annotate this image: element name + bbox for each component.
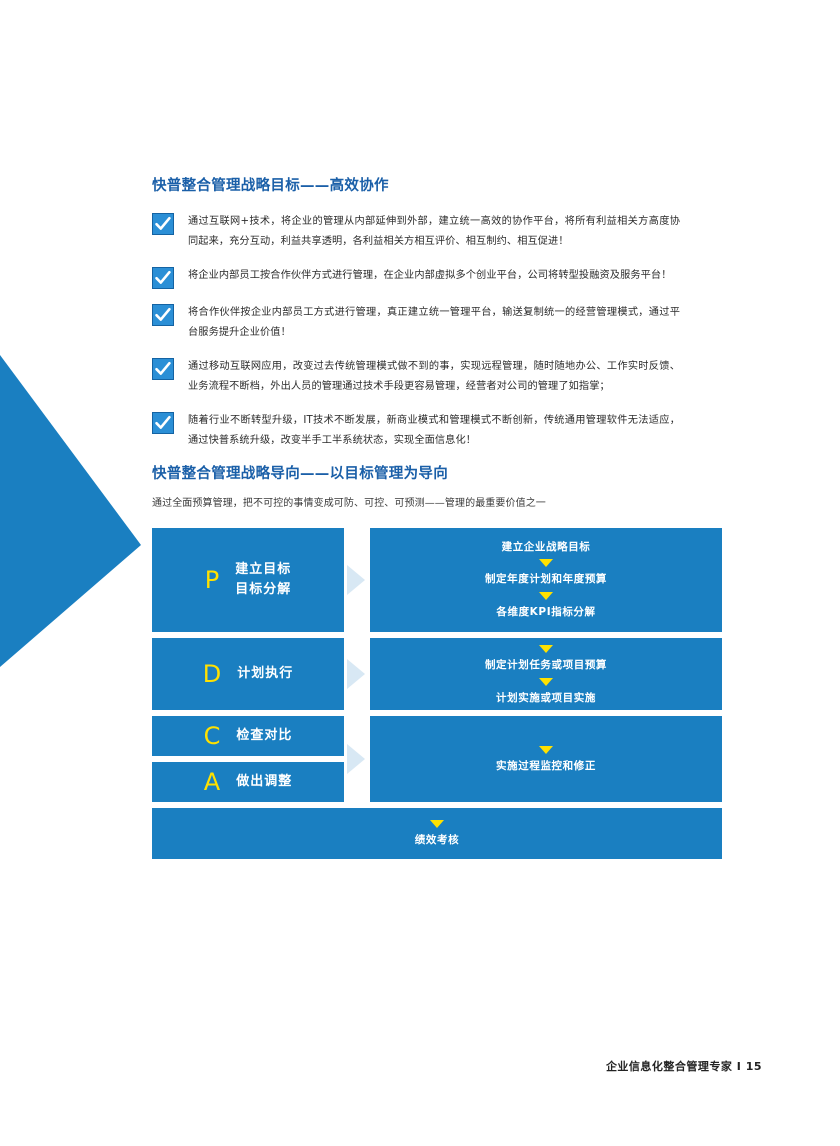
content-column: 快普整合管理战略目标——高效协作 通过互联网+技术，将企业的管理从内部延伸到外部… <box>152 176 680 859</box>
pdca-stage-label: 计划执行 <box>237 664 293 684</box>
pdca-letter-a: A <box>204 770 220 794</box>
list-item-text: 随着行业不断转型升级，IT技术不断发展，新商业模式和管理模式不断创新，传统通用管… <box>188 411 680 451</box>
pdca-letter-p: P <box>205 568 219 592</box>
check-box-icon <box>152 267 174 289</box>
pdca-flow-check-act: 实施过程监控和修正 <box>370 716 722 802</box>
chevron-right-icon <box>344 638 370 710</box>
list-item-text: 通过互联网+技术，将企业的管理从内部延伸到外部，建立统一高效的协作平台，将所有利… <box>188 212 680 252</box>
page-title-strategy-goal: 快普整合管理战略目标——高效协作 <box>152 176 680 196</box>
pdca-row-plan: P 建立目标 目标分解 建立企业战略目标 制定年度计划和年度预算 <box>152 528 722 632</box>
pdca-letter-c: C <box>204 724 221 748</box>
pdca-stage-c: C 检查对比 <box>152 716 344 756</box>
pdca-stage-a: A 做出调整 <box>152 762 344 802</box>
arrow-down-icon <box>539 678 553 686</box>
flow-step: 制定计划任务或项目预算 <box>485 657 607 674</box>
pdca-label-line: 建立目标 <box>235 560 291 580</box>
pdca-left-column: D 计划执行 <box>152 638 344 710</box>
list-item: 通过互联网+技术，将企业的管理从内部延伸到外部，建立统一高效的协作平台，将所有利… <box>152 212 680 252</box>
list-item: 随着行业不断转型升级，IT技术不断发展，新商业模式和管理模式不断创新，传统通用管… <box>152 411 680 451</box>
pdca-label-line: 计划执行 <box>237 664 293 684</box>
pdca-flow-plan: 建立企业战略目标 制定年度计划和年度预算 各维度KPI指标分解 <box>370 528 722 632</box>
pdca-stage-label: 做出调整 <box>236 772 292 792</box>
pdca-row-check-act: C 检查对比 A 做出调整 <box>152 716 722 802</box>
pdca-label-line: 检查对比 <box>236 726 292 746</box>
flow-step: 绩效考核 <box>415 832 459 849</box>
list-item-text: 将合作伙伴按企业内部员工方式进行管理，真正建立统一管理平台，输送复制统一的经营管… <box>188 303 680 343</box>
page-footer: 企业信息化整合管理专家 I 15 <box>606 1058 762 1074</box>
check-box-icon <box>152 412 174 434</box>
page-title-strategy-direction: 快普整合管理战略导向——以目标管理为导向 <box>152 464 680 484</box>
arrow-down-icon <box>539 645 553 653</box>
pdca-label-line: 目标分解 <box>235 580 291 600</box>
list-item: 将企业内部员工按合作伙伴方式进行管理，在企业内部虚拟多个创业平台，公司将转型投融… <box>152 266 680 289</box>
pdca-diagram: P 建立目标 目标分解 建立企业战略目标 制定年度计划和年度预算 <box>152 528 722 859</box>
flow-step: 建立企业战略目标 <box>502 539 591 556</box>
pdca-stage-label: 检查对比 <box>236 726 292 746</box>
pdca-label-line: 做出调整 <box>236 772 292 792</box>
decorative-triangle <box>0 355 141 667</box>
pdca-left-column: C 检查对比 A 做出调整 <box>152 716 344 802</box>
arrow-down-icon <box>430 820 444 828</box>
list-item: 将合作伙伴按企业内部员工方式进行管理，真正建立统一管理平台，输送复制统一的经营管… <box>152 303 680 343</box>
pdca-stage-p: P 建立目标 目标分解 <box>152 528 344 632</box>
arrow-down-icon <box>539 746 553 754</box>
check-box-icon <box>152 358 174 380</box>
check-box-icon <box>152 304 174 326</box>
strategy-goal-list: 通过互联网+技术，将企业的管理从内部延伸到外部，建立统一高效的协作平台，将所有利… <box>152 212 680 450</box>
pdca-letter-d: D <box>203 662 221 686</box>
pdca-left-column: P 建立目标 目标分解 <box>152 528 344 632</box>
flow-step: 制定年度计划和年度预算 <box>485 571 607 588</box>
flow-step: 实施过程监控和修正 <box>496 758 596 775</box>
chevron-right-icon <box>344 716 370 802</box>
pdca-row-do: D 计划执行 制定计划任务或项目预算 计划实施或项目实施 <box>152 638 722 710</box>
flow-step: 计划实施或项目实施 <box>496 690 596 707</box>
section-caption: 通过全面预算管理，把不可控的事情变成可防、可控、可预测——管理的最重要价值之一 <box>152 495 680 512</box>
pdca-flow-do: 制定计划任务或项目预算 计划实施或项目实施 <box>370 638 722 710</box>
pdca-performance-band: 绩效考核 <box>152 808 722 859</box>
flow-step: 各维度KPI指标分解 <box>496 604 595 621</box>
arrow-down-icon <box>539 559 553 567</box>
arrow-down-icon <box>539 592 553 600</box>
check-box-icon <box>152 213 174 235</box>
list-item-text: 通过移动互联网应用，改变过去传统管理模式做不到的事，实现远程管理，随时随地办公、… <box>188 357 680 397</box>
pdca-stage-label: 建立目标 目标分解 <box>235 560 291 599</box>
document-page: 快普整合管理战略目标——高效协作 通过互联网+技术，将企业的管理从内部延伸到外部… <box>0 0 840 1146</box>
chevron-right-icon <box>344 528 370 632</box>
pdca-stage-d: D 计划执行 <box>152 638 344 710</box>
list-item: 通过移动互联网应用，改变过去传统管理模式做不到的事，实现远程管理，随时随地办公、… <box>152 357 680 397</box>
list-item-text: 将企业内部员工按合作伙伴方式进行管理，在企业内部虚拟多个创业平台，公司将转型投融… <box>188 266 672 286</box>
